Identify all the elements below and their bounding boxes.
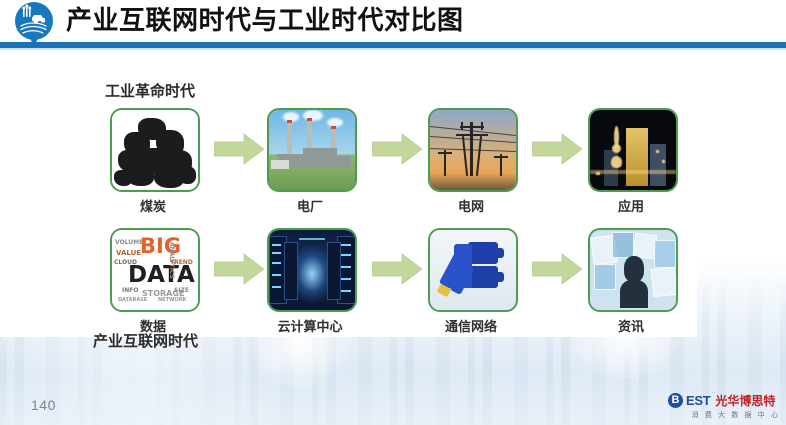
coal-pile-photo (110, 108, 200, 192)
node-caption: 电网 (428, 196, 514, 215)
node-data[interactable]: BIG DATA VOLUME VALUE CLOUD ANALYTICS TR… (110, 228, 196, 335)
node-caption: 煤炭 (110, 196, 196, 215)
brand-name: EST (686, 393, 710, 408)
node-information[interactable]: 资讯 (588, 228, 674, 335)
node-power-plant[interactable]: 电厂 (267, 108, 353, 215)
brand-logo: B EST 光华博思特 消 费 大 数 据 中 心 (668, 392, 780, 420)
node-caption: 通信网络 (428, 316, 514, 335)
information-collage-photo (588, 228, 678, 312)
era-label-industrial: 工业革命时代 (105, 80, 195, 101)
header-rule-soft (0, 48, 786, 50)
flow-arrow (372, 132, 422, 166)
flow-arrow (532, 132, 582, 166)
node-power-grid[interactable]: 电网 (428, 108, 514, 215)
slide-header: 产业互联网时代与工业时代对比图 (0, 0, 786, 52)
node-caption: 数据 (110, 316, 196, 335)
big-data-wordcloud-photo: BIG DATA VOLUME VALUE CLOUD ANALYTICS TR… (110, 228, 200, 312)
node-caption: 资讯 (588, 316, 674, 335)
wordcloud-data: DATA (128, 264, 195, 287)
node-application[interactable]: 应用 (588, 108, 674, 215)
flow-arrow (372, 252, 422, 286)
node-caption: 电厂 (267, 196, 353, 215)
data-center-corridor-photo (267, 228, 357, 312)
power-plant-photo (267, 108, 357, 192)
node-cloud-center[interactable]: 云计算中心 (267, 228, 353, 335)
node-coal[interactable]: 煤炭 (110, 108, 196, 215)
slide-canvas: 产业互联网时代与工业时代对比图 工业革命时代 产业互联网时代 煤炭 (0, 0, 786, 425)
flow-arrow (214, 252, 264, 286)
node-caption: 应用 (588, 196, 674, 215)
page-title: 产业互联网时代与工业时代对比图 (66, 3, 464, 39)
transmission-tower-photo (428, 108, 518, 192)
night-city-buildings-photo (588, 108, 678, 192)
brand-name-cn: 光华博思特 (715, 392, 775, 409)
page-number: 140 (31, 397, 56, 413)
brand-subtitle: 消 费 大 数 据 中 心 (668, 410, 780, 420)
node-communication-network[interactable]: 通信网络 (428, 228, 514, 335)
flow-arrow (532, 252, 582, 286)
fiber-optic-connector-photo (428, 228, 518, 312)
brand-mark-icon: B (668, 393, 683, 408)
node-caption: 云计算中心 (267, 316, 353, 335)
flow-arrow (214, 132, 264, 166)
